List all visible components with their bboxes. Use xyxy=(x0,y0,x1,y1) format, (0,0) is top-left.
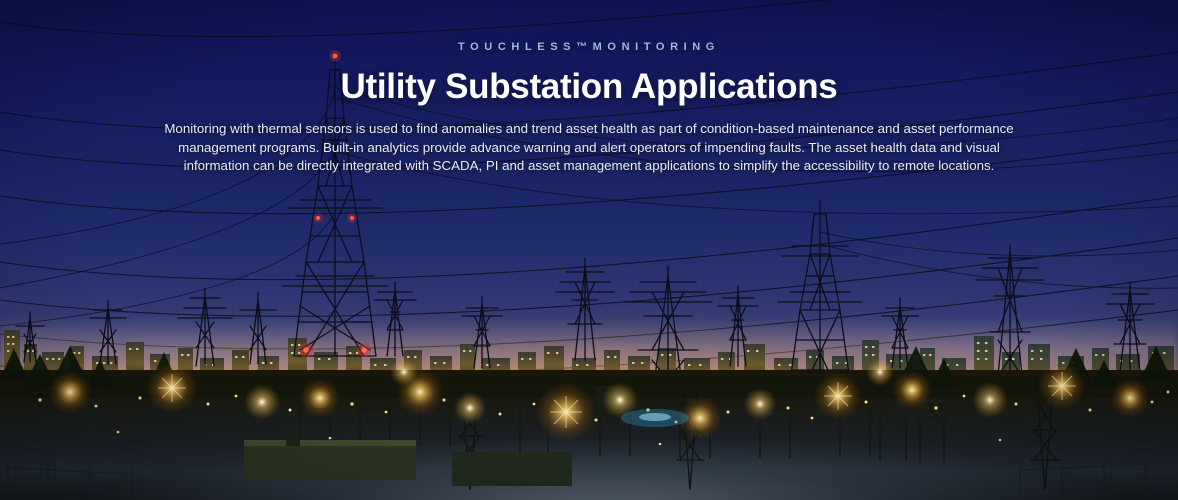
page-title: Utility Substation Applications xyxy=(0,67,1178,106)
treeline xyxy=(0,346,1178,398)
hero-content: TOUCHLESS™MONITORING Utility Substation … xyxy=(0,0,1178,176)
perimeter-fence xyxy=(8,458,1146,498)
substation-yard xyxy=(0,340,1178,500)
eyebrow-label: TOUCHLESS™MONITORING xyxy=(0,42,1178,53)
hero-description: Monitoring with thermal sensors is used … xyxy=(149,120,1029,176)
hero-banner: TOUCHLESS™MONITORING Utility Substation … xyxy=(0,0,1178,500)
